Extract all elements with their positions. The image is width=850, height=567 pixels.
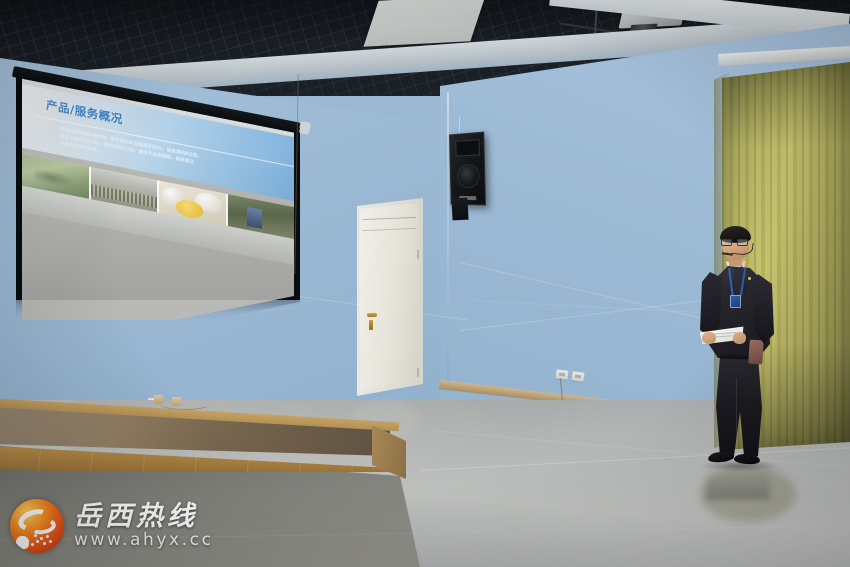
stage-foot <box>154 395 163 404</box>
door-lock-icon[interactable] <box>369 320 373 330</box>
projection-screen[interactable]: 产品/服务概况 野鸡肉质细嫩味道鲜美，其中蛋白质含量高达30%，是普通鸡的2倍，… <box>8 60 308 300</box>
wall-outlet-right[interactable] <box>571 371 584 381</box>
speaker-mount-bracket <box>451 198 468 221</box>
belt-phone-pouch <box>748 340 764 365</box>
presenter-hand-left <box>702 332 716 344</box>
presenter-hand-right <box>733 332 746 344</box>
watermark-text: 岳西热线 www.ahyx.cc <box>74 503 214 549</box>
headset-band-icon <box>731 241 753 256</box>
id-badge <box>730 295 741 308</box>
slide-title: 产品/服务概况 <box>46 96 123 127</box>
site-url: www.ahyx.cc <box>74 532 214 549</box>
logo-dots <box>18 532 58 548</box>
lapel-pin-icon <box>748 277 751 280</box>
watermark: 岳西热线 www.ahyx.cc <box>10 495 240 557</box>
wall-speaker <box>449 132 486 206</box>
site-logo-icon <box>10 499 64 553</box>
speaker-woofer-icon <box>457 164 480 188</box>
ceiling-light-panel <box>363 0 485 47</box>
door-hinge-lower <box>417 368 419 377</box>
photo-scene: 产品/服务概况 野鸡肉质细嫩味道鲜美，其中蛋白质含量高达30%，是普通鸡的2倍，… <box>0 0 850 567</box>
door-hinge-upper <box>417 250 419 259</box>
site-name: 岳西热线 <box>74 503 214 530</box>
presenter-arm-right <box>754 274 774 344</box>
interior-door[interactable] <box>360 203 418 391</box>
door-handle[interactable] <box>367 313 377 317</box>
presenter-floor-reflection <box>706 466 770 500</box>
wall-outlet-left[interactable] <box>555 369 568 379</box>
trouser-crease <box>736 378 737 448</box>
speaker-tweeter-icon <box>455 139 480 156</box>
presenter-trousers <box>714 356 764 456</box>
presenter <box>686 228 794 480</box>
